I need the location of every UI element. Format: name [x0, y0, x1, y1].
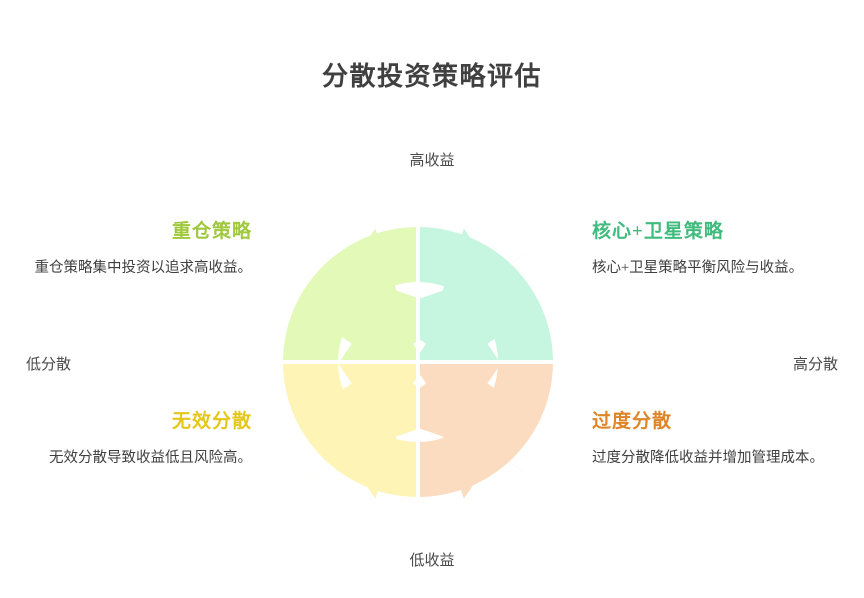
quadrant-description-top-left: 重仓策略集中投资以追求高收益。 [14, 257, 252, 280]
quadrant-block-top-left: 重仓策略 重仓策略集中投资以追求高收益。 [14, 221, 252, 280]
axis-label-left: 低分散 [26, 353, 71, 374]
quadrant-heading-bottom-right: 过度分散 [592, 411, 830, 434]
quadrant-block-bottom-right: 过度分散 过度分散降低收益并增加管理成本。 [592, 411, 830, 470]
quadrant-heading-top-right: 核心+卫星策略 [592, 221, 830, 244]
axis-label-right: 高分散 [793, 353, 838, 374]
axis-label-top: 高收益 [0, 149, 864, 170]
quadrant-description-bottom-right: 过度分散降低收益并增加管理成本。 [592, 447, 830, 470]
quadrant-block-top-right: 核心+卫星策略 核心+卫星策略平衡风险与收益。 [592, 221, 830, 280]
quadrant-diagram-page: 分散投资策略评估 高收益 低收益 低分散 高分散 [0, 0, 864, 598]
quadrant-heading-bottom-left: 无效分散 [14, 411, 252, 434]
page-title: 分散投资策略评估 [0, 56, 864, 93]
quadrant-block-bottom-left: 无效分散 无效分散导致收益低且风险高。 [14, 411, 252, 470]
quadrant-description-bottom-left: 无效分散导致收益低且风险高。 [14, 447, 252, 470]
axis-label-bottom: 低收益 [0, 549, 864, 570]
quadrant-description-top-right: 核心+卫星策略平衡风险与收益。 [592, 257, 830, 280]
cycle-donut-graphic [263, 207, 573, 517]
quadrant-heading-top-left: 重仓策略 [14, 221, 252, 244]
donut-svg [263, 207, 573, 517]
